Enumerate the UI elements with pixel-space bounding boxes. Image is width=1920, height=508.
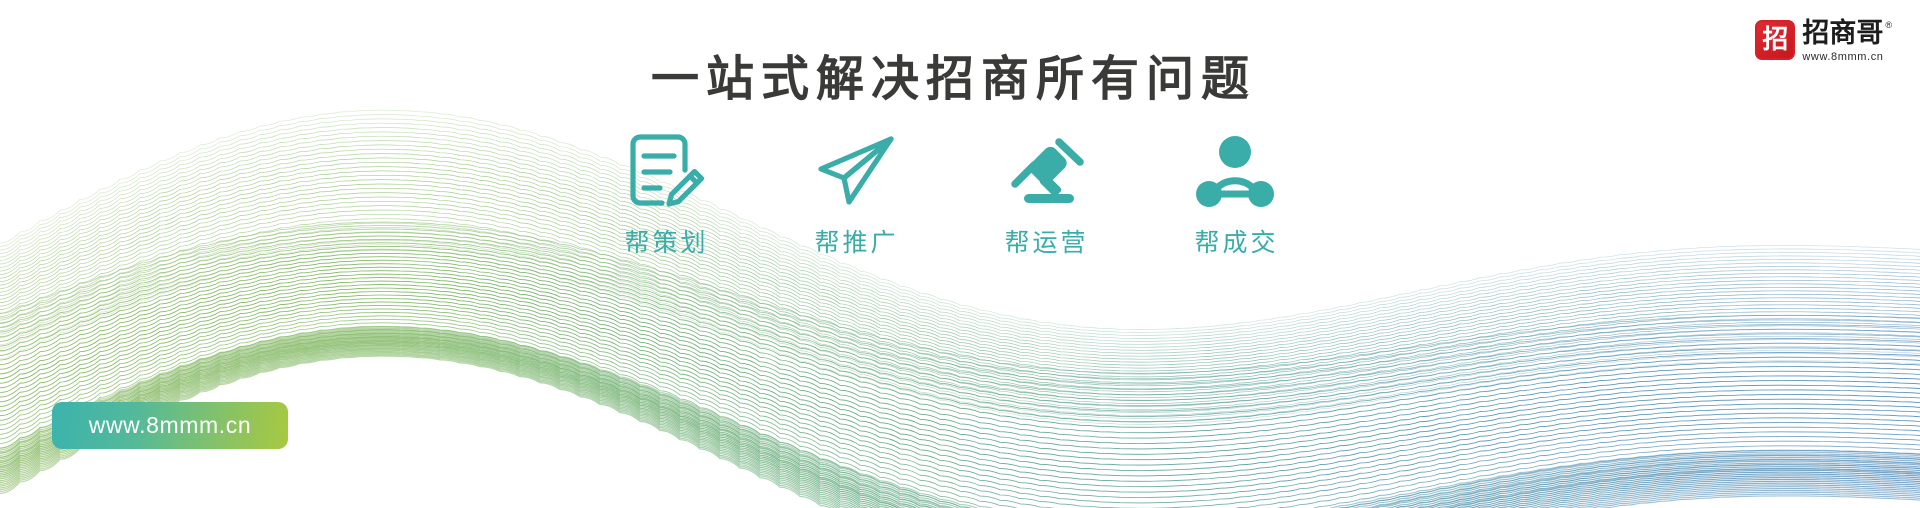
service-item-promotion[interactable]: 帮推广 [791,130,919,255]
wave-line [0,337,1920,508]
wave-line [0,285,1920,471]
logo-wordmark: 招商哥 [1802,20,1883,48]
promotional-banner: 招 招商哥 ® www.8mmm.cn 一站式解决招商所有问题 [0,0,1920,508]
wave-line [0,342,1920,508]
wave-line [0,334,1920,508]
wave-line [0,319,1920,508]
wave-line [0,356,1920,508]
wave-line [0,232,1920,389]
wave-line [0,250,1920,417]
service-list: 帮策划 帮推广 [0,130,1900,255]
wave-line [0,240,1920,418]
document-pencil-icon [622,130,708,212]
wave-line [0,249,1920,424]
wave-line [0,335,1920,508]
wave-line [0,232,1920,413]
wave-line [0,281,1920,465]
wave-line [0,257,1920,428]
wave-line [0,292,1920,482]
wave-line [0,343,1920,508]
service-item-planning[interactable]: 帮策划 [601,130,729,255]
wave-line [0,246,1920,411]
wave-line [0,333,1920,508]
wave-line [0,353,1920,508]
service-item-closing[interactable]: 帮成交 [1171,130,1299,255]
logo-wordmark-row: 招商哥 ® [1802,20,1892,48]
wave-line [0,346,1920,508]
wave-line [0,328,1920,508]
network-share-icon [1192,130,1278,212]
wave-line [0,331,1920,508]
wave-line [0,274,1920,454]
wave-line [0,329,1920,508]
wave-line [0,267,1920,443]
service-label: 帮推广 [811,230,898,255]
wave-line [0,333,1920,508]
wave-line [0,340,1920,508]
service-label: 帮策划 [621,230,708,255]
wave-line [0,336,1920,508]
wave-line [0,341,1920,508]
service-label: 帮成交 [1191,230,1278,255]
gavel-icon [1001,130,1089,212]
wave-line [0,350,1920,508]
wave-line [0,323,1920,508]
wave-line [0,260,1920,433]
registered-trademark-icon: ® [1885,21,1892,30]
service-item-operations[interactable]: 帮运营 [981,130,1109,255]
headline-text: 一站式解决招商所有问题 [644,52,1256,107]
service-label: 帮运营 [1001,230,1088,255]
wave-line [0,327,1920,508]
wave-line [0,348,1920,508]
wave-line [0,271,1920,449]
wave-line [0,295,1920,487]
wave-line [0,302,1920,498]
wave-line [0,347,1920,508]
wave-line [0,355,1920,508]
wave-line [0,245,1920,422]
paper-plane-icon [811,130,899,212]
wave-line [0,312,1920,508]
wave-line [0,349,1920,508]
wave-line [0,354,1920,508]
wave-line [0,351,1920,508]
wave-line [0,309,1920,508]
wave-line [0,278,1920,460]
wave-line [0,344,1920,508]
website-url-text: www.8mmm.cn [89,412,252,439]
logo-badge-character: 招 [1762,27,1788,53]
wave-line [0,332,1920,508]
wave-line [0,316,1920,508]
headline: 一站式解决招商所有问题 [0,52,1900,107]
wave-line [0,330,1920,508]
website-url-badge[interactable]: www.8mmm.cn [52,402,288,449]
wave-line [0,253,1920,422]
wave-line [0,339,1920,508]
wave-line [0,338,1920,508]
wave-line [0,253,1920,427]
wave-line [0,236,1920,395]
wave-line [0,305,1920,503]
wave-line [0,239,1920,400]
wave-line [0,326,1920,508]
wave-line [0,243,1920,406]
wave-line [0,264,1920,438]
wave-line [0,299,1920,493]
wave-line [0,288,1920,476]
wave-line [0,236,1920,416]
